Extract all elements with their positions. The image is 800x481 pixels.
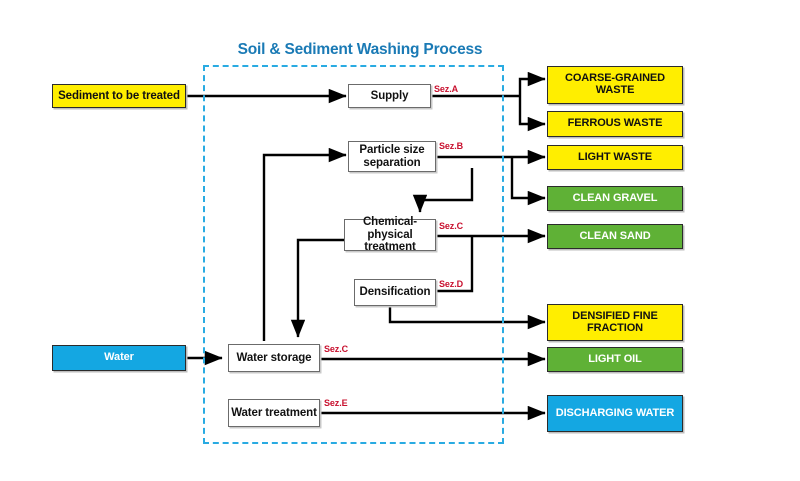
output-light-waste[interactable]: LIGHT WASTE bbox=[547, 145, 683, 170]
wire-supply-to-ferrous-waste bbox=[520, 96, 545, 124]
washing-process-boundary bbox=[203, 65, 504, 444]
input-sediment-label: Sediment to be treated bbox=[58, 90, 180, 102]
output-discharging-water-label: DISCHARGING WATER bbox=[556, 408, 674, 420]
wire-supply-to-coarse-grained-waste bbox=[520, 79, 545, 96]
process-flow-diagram: Soil & Sediment Washing Process bbox=[0, 0, 800, 481]
process-water-treatment-label: Water treatment bbox=[231, 407, 317, 419]
process-water-storage[interactable]: Water storage bbox=[228, 344, 320, 372]
section-label-sez-c-chem: Sez.C bbox=[439, 221, 463, 231]
process-supply[interactable]: Supply bbox=[348, 84, 431, 108]
section-label-sez-e: Sez.E bbox=[324, 398, 348, 408]
wire-particle-size-to-clean-gravel bbox=[512, 157, 545, 198]
process-water-storage-label: Water storage bbox=[237, 352, 312, 364]
output-clean-gravel-label: CLEAN GRAVEL bbox=[573, 193, 658, 205]
process-chemical-physical-treatment-label: Chemical-physical treatment bbox=[345, 216, 435, 253]
output-light-oil[interactable]: LIGHT OIL bbox=[547, 347, 683, 372]
output-clean-sand[interactable]: CLEAN SAND bbox=[547, 224, 683, 249]
section-label-sez-a: Sez.A bbox=[434, 84, 458, 94]
process-chemical-physical-treatment[interactable]: Chemical-physical treatment bbox=[344, 219, 436, 251]
process-supply-label: Supply bbox=[371, 90, 409, 102]
input-water[interactable]: Water bbox=[52, 345, 186, 371]
process-particle-size-separation[interactable]: Particle size separation bbox=[348, 141, 436, 172]
output-light-oil-label: LIGHT OIL bbox=[588, 354, 641, 366]
output-ferrous-waste-label: FERROUS WASTE bbox=[568, 118, 663, 130]
process-densification[interactable]: Densification bbox=[354, 279, 436, 306]
process-densification-label: Densification bbox=[360, 286, 431, 298]
output-densified-fine-fraction[interactable]: DENSIFIED FINE FRACTION bbox=[547, 304, 683, 341]
output-densified-fine-fraction-label: DENSIFIED FINE FRACTION bbox=[548, 311, 682, 335]
process-particle-size-separation-label: Particle size separation bbox=[349, 144, 435, 169]
output-discharging-water[interactable]: DISCHARGING WATER bbox=[547, 395, 683, 432]
output-coarse-grained-waste[interactable]: COARSE-GRAINED WASTE bbox=[547, 66, 683, 104]
section-label-sez-b: Sez.B bbox=[439, 141, 463, 151]
process-water-treatment[interactable]: Water treatment bbox=[228, 399, 320, 427]
section-label-sez-d: Sez.D bbox=[439, 279, 463, 289]
input-water-label: Water bbox=[104, 352, 134, 364]
output-clean-gravel[interactable]: CLEAN GRAVEL bbox=[547, 186, 683, 211]
input-sediment-to-be-treated[interactable]: Sediment to be treated bbox=[52, 84, 186, 108]
section-label-sez-c-water: Sez.C bbox=[324, 344, 348, 354]
output-ferrous-waste[interactable]: FERROUS WASTE bbox=[547, 111, 683, 137]
page-title: Soil & Sediment Washing Process bbox=[200, 41, 520, 59]
output-coarse-grained-waste-label: COARSE-GRAINED WASTE bbox=[548, 73, 682, 97]
output-light-waste-label: LIGHT WASTE bbox=[578, 152, 652, 164]
output-clean-sand-label: CLEAN SAND bbox=[579, 231, 650, 243]
